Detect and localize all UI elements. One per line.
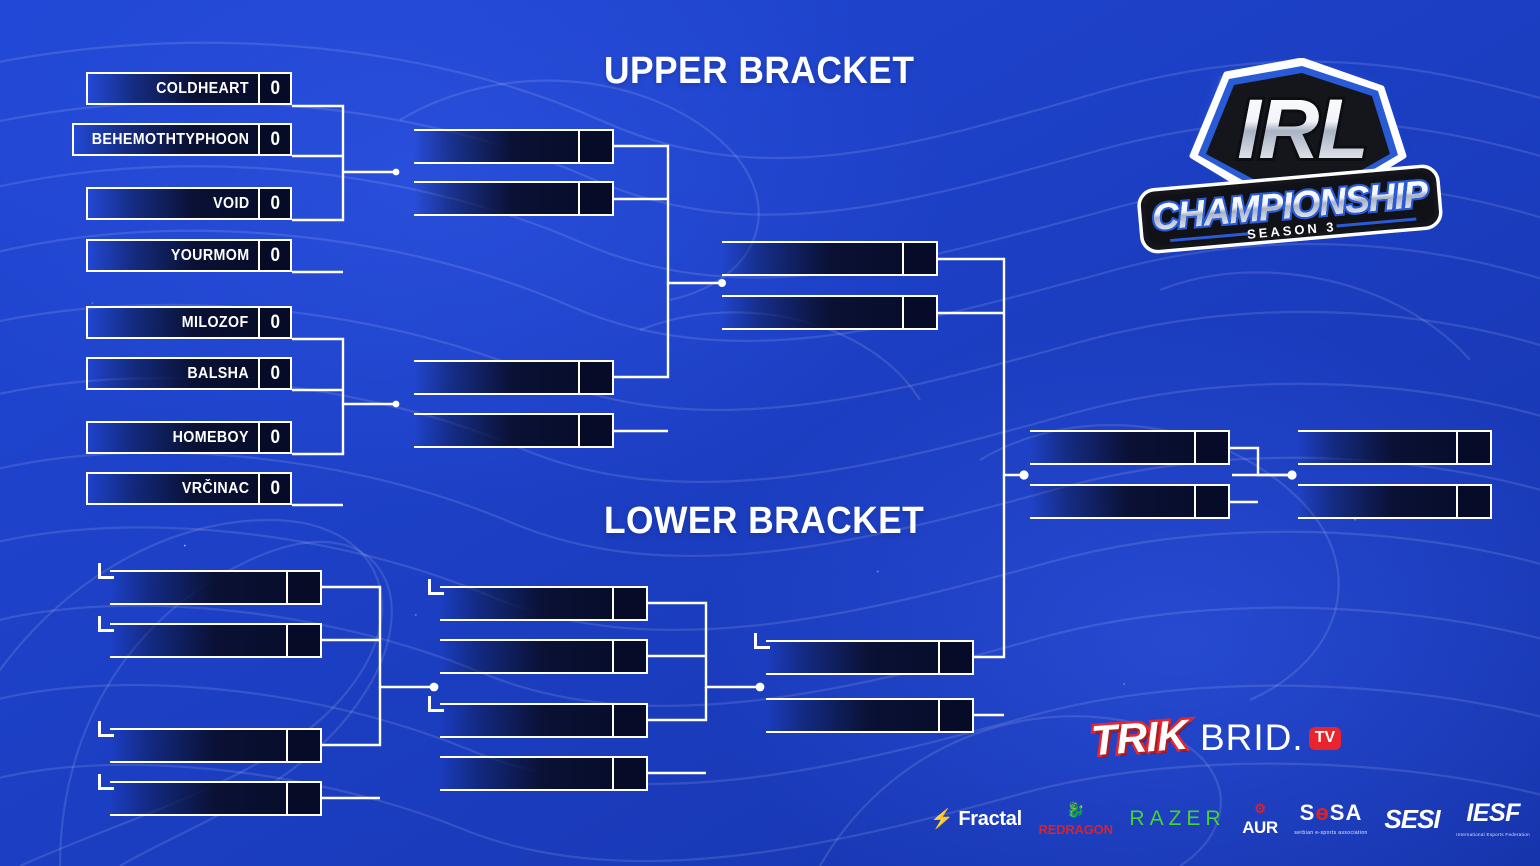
team-name-cell: BEHEMOTHTYPHOON [72,123,258,156]
match-slot[interactable] [1298,484,1492,519]
team-name-cell: MILOZOF [86,306,258,339]
team-name-cell [766,640,938,675]
sponsor-redragon: 🐉 REDRAGON [1039,803,1113,836]
team-score-cell: 0 [258,357,292,390]
match-slot[interactable] [722,241,938,276]
sponsor-label: SESI [1384,804,1439,835]
match-slot[interactable] [440,756,648,791]
team-score-cell [902,295,938,330]
match-slot[interactable] [110,728,322,763]
match-slot[interactable]: VRČINAC 0 [86,472,292,505]
match-slot[interactable] [440,639,648,674]
match-slot[interactable]: MILOZOF 0 [86,306,292,339]
match-slot[interactable] [414,413,614,448]
match-slot[interactable]: HOMEBOY 0 [86,421,292,454]
team-name-cell [414,360,578,395]
gear-icon: ⚙ [1254,803,1265,815]
team-score-cell [286,781,322,816]
match-slot[interactable]: YOURMOM 0 [86,239,292,272]
team-score-cell: 0 [258,472,292,505]
sponsor-razer: RAZER [1129,807,1225,831]
svg-text:IRL: IRL [1237,82,1366,176]
match-slot[interactable]: COLDHEART 0 [86,72,292,105]
team-name-cell [110,623,286,658]
feed-in-tick [98,721,114,737]
team-score-cell [286,570,322,605]
team-score-cell [938,640,974,675]
team-score-cell [612,703,648,738]
team-score-cell: 0 [258,72,292,105]
sponsor-sesa: SөSA serbian e-sports association [1294,802,1367,836]
team-name-cell [414,129,578,164]
sponsor-bar: ⚡ Fractal 🐉 REDRAGON RAZER ⚙ AUR SөSA se… [930,795,1530,843]
team-name-cell [722,241,902,276]
team-name-cell [1030,484,1194,519]
team-name-cell: VRČINAC [86,472,258,505]
match-slot[interactable] [110,570,322,605]
sponsor-subtitle: serbian e-sports association [1294,831,1367,836]
sponsor-subtitle: International Esports Federation [1456,833,1530,838]
match-slot[interactable] [440,703,648,738]
team-name-cell [440,586,612,621]
feed-in-tick [428,696,444,712]
match-slot[interactable]: VOID 0 [86,187,292,220]
team-score-cell [286,728,322,763]
team-score-cell [1194,430,1230,465]
fractal-bolt-icon: ⚡ [930,807,953,831]
tv-badge: TV [1309,727,1341,750]
sponsor-aur: ⚙ AUR [1242,803,1277,835]
team-name-cell [440,756,612,791]
team-score-cell [902,241,938,276]
match-slot[interactable] [110,781,322,816]
team-score-cell [1456,430,1492,465]
team-name-cell [1298,430,1456,465]
match-slot[interactable] [766,698,974,733]
team-score-cell [1194,484,1230,519]
team-name-cell [440,639,612,674]
team-score-cell [578,181,614,216]
brid-wordmark: BRID. TV [1200,717,1341,759]
dragon-icon: 🐉 [1066,803,1084,818]
team-name-cell [414,413,578,448]
team-name-cell: BALSHA [86,357,258,390]
team-score-cell [612,586,648,621]
sponsor-label: AUR [1242,820,1277,835]
trik-wordmark: TRIK [1090,711,1189,766]
feed-in-tick [98,563,114,579]
sponsor-label: RAZER [1129,807,1225,831]
match-slot[interactable] [766,640,974,675]
sponsor-iesf: IESF International Esports Federation [1456,801,1530,838]
match-slot[interactable] [414,181,614,216]
sponsor-label: REDRAGON [1039,823,1113,836]
match-slot[interactable]: BALSHA 0 [86,357,292,390]
match-slot[interactable] [414,129,614,164]
team-name-cell [1298,484,1456,519]
brid-text: BRID. [1200,717,1304,759]
feed-in-tick [428,579,444,595]
team-score-cell: 0 [258,306,292,339]
feed-in-tick [754,633,770,649]
match-slot[interactable] [1030,430,1230,465]
team-name-cell [110,570,286,605]
team-name-cell [414,181,578,216]
team-name-cell [766,698,938,733]
sponsor-label: IESF [1466,801,1520,826]
upper-bracket-heading: UPPER BRACKET [604,50,914,93]
team-score-cell [612,756,648,791]
match-slot[interactable]: BEHEMOTHTYPHOON 0 [72,123,292,156]
team-score-cell: 0 [258,123,292,156]
match-slot[interactable] [110,623,322,658]
team-name-cell [110,781,286,816]
team-score-cell [578,360,614,395]
team-score-cell [1456,484,1492,519]
team-score-cell: 0 [258,187,292,220]
team-score-cell [612,639,648,674]
team-score-cell [286,623,322,658]
team-name-cell [440,703,612,738]
sponsor-label: SөSA [1300,802,1363,824]
sponsor-sesi: SESI [1384,804,1439,835]
match-slot[interactable] [1030,484,1230,519]
match-slot[interactable] [1298,430,1492,465]
team-name-cell [1030,430,1194,465]
feed-in-tick [98,616,114,632]
team-score-cell [578,413,614,448]
match-slot[interactable] [722,295,938,330]
team-score-cell [938,698,974,733]
match-slot[interactable] [414,360,614,395]
team-name-cell: YOURMOM [86,239,258,272]
team-name-cell: HOMEBOY [86,421,258,454]
team-score-cell: 0 [258,421,292,454]
team-name-cell [722,295,902,330]
feed-in-tick [98,774,114,790]
match-slot[interactable] [440,586,648,621]
team-score-cell [578,129,614,164]
team-score-cell: 0 [258,239,292,272]
sesa-red-e: ө [1315,800,1329,825]
lower-bracket-heading: LOWER BRACKET [604,500,924,543]
team-name-cell [110,728,286,763]
sponsor-label: Fractal [958,808,1022,831]
irl-championship-logo: IRL IRL CHAMPIONSHIP CHAMPIONSHIP SEASON… [1130,58,1450,273]
team-name-cell: COLDHEART [86,72,258,105]
trikbrid-tv-logo: TRIK BRID. TV [1092,714,1341,762]
sponsor-fractal: ⚡ Fractal [930,807,1022,831]
team-name-cell: VOID [86,187,258,220]
